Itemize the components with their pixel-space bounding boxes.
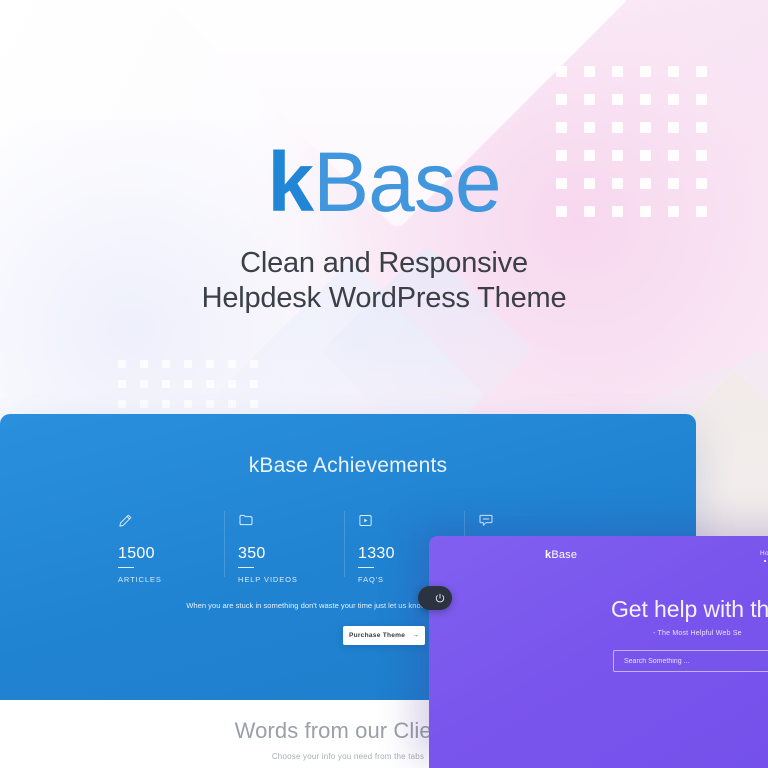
dot (640, 66, 651, 77)
dot (584, 122, 595, 133)
comment-icon (478, 509, 588, 531)
logo-word-base: Base (313, 135, 500, 229)
dot (140, 400, 148, 408)
stat-underline (118, 567, 134, 568)
stat-underline (358, 567, 374, 568)
dot (556, 122, 567, 133)
dot (140, 380, 148, 388)
search-input[interactable] (613, 650, 768, 672)
purchase-theme-label: Purchase Theme (349, 632, 405, 639)
dot (250, 380, 258, 388)
stat-label: Help Videos (238, 575, 348, 584)
stat-item: 350Help Videos (238, 509, 358, 584)
hero-tagline: Clean and Responsive Helpdesk WordPress … (0, 246, 768, 317)
dot (118, 400, 126, 408)
dot (612, 94, 623, 105)
purchase-theme-button[interactable]: Purchase Theme → (343, 626, 425, 645)
preview-canvas: kBase Clean and Responsive Helpdesk Word… (0, 0, 768, 768)
dot (118, 360, 126, 368)
dot-grid-bottom-left (118, 360, 272, 420)
stat-label: Articles (118, 575, 228, 584)
dot (668, 122, 679, 133)
dot (140, 360, 148, 368)
dot (206, 400, 214, 408)
purple-preview-card: kBase HomeBlog Get help with the Adva - … (429, 536, 768, 768)
purple-nav-label: Home (760, 550, 768, 557)
purple-card-heading: Get help with the Adva (611, 596, 768, 623)
dot (162, 380, 170, 388)
dot (696, 66, 707, 77)
hero-block: kBase Clean and Responsive Helpdesk Word… (0, 140, 768, 317)
power-icon (435, 593, 445, 603)
dot (696, 122, 707, 133)
dot (206, 380, 214, 388)
dot (668, 94, 679, 105)
stat-item: 1500Articles (118, 509, 238, 584)
dot (118, 380, 126, 388)
dot (556, 66, 567, 77)
purple-card-logo: kBase (545, 549, 577, 561)
purple-card-subtitle: - The Most Helpful Web Se (653, 630, 742, 637)
dot (228, 360, 236, 368)
dot (584, 66, 595, 77)
achievements-title: kBase Achievements (0, 454, 696, 478)
active-nav-dots (760, 560, 768, 562)
dot (228, 380, 236, 388)
tagline-line-1: Clean and Responsive (240, 247, 528, 279)
purple-heading-light: Get help with the (611, 596, 768, 622)
arrow-right-icon: → (412, 632, 419, 639)
dot (184, 400, 192, 408)
power-toggle-widget[interactable] (418, 586, 452, 610)
dot (162, 400, 170, 408)
pencil-icon (118, 509, 228, 531)
dot (612, 122, 623, 133)
dot (184, 360, 192, 368)
stat-value: 350 (238, 545, 348, 563)
purple-card-nav: HomeBlog (760, 550, 768, 562)
dot (162, 360, 170, 368)
dot (640, 94, 651, 105)
stat-underline (238, 567, 254, 568)
dot (206, 360, 214, 368)
logo-letter-k: k (267, 135, 313, 229)
kbase-logo: kBase (0, 140, 768, 224)
purple-logo-word-base: Base (551, 549, 577, 561)
folder-icon (238, 509, 348, 531)
dot (696, 94, 707, 105)
dot (228, 400, 236, 408)
stat-value: 1500 (118, 545, 228, 563)
dot (250, 360, 258, 368)
dot (250, 400, 258, 408)
purple-nav-item-home[interactable]: Home (760, 550, 768, 562)
dot (584, 94, 595, 105)
dot (640, 122, 651, 133)
dot (184, 380, 192, 388)
dot (556, 94, 567, 105)
dot (668, 66, 679, 77)
dot (612, 66, 623, 77)
tagline-line-2: Helpdesk WordPress Theme (0, 281, 768, 316)
video-icon (358, 509, 468, 531)
